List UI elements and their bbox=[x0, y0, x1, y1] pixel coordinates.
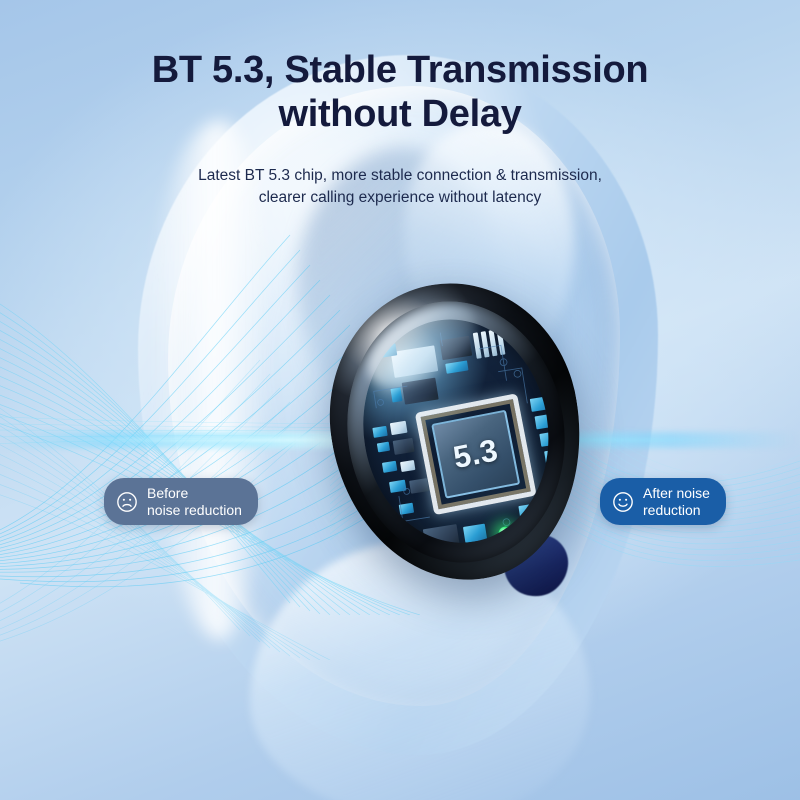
headline-line-1: BT 5.3, Stable Transmission bbox=[152, 49, 649, 91]
page-subtitle: Latest BT 5.3 chip, more stable connecti… bbox=[0, 165, 800, 210]
chip-core: 5.3 bbox=[431, 410, 520, 499]
earbud-transparent-window: 5.3 bbox=[347, 306, 564, 556]
badge-before-text: Before noise reduction bbox=[147, 485, 242, 518]
product-banner: 5.3 BT 5.3, Stable Transmission without … bbox=[0, 0, 800, 800]
badge-before-noise-reduction: Before noise reduction bbox=[104, 478, 258, 525]
subtitle-line-1: Latest BT 5.3 chip, more stable connecti… bbox=[198, 167, 602, 184]
page-title: BT 5.3, Stable Transmission without Dela… bbox=[0, 48, 800, 136]
badge-after-line-1: After noise bbox=[643, 485, 710, 501]
badge-after-noise-reduction: After noise reduction bbox=[600, 478, 726, 525]
badge-after-text: After noise reduction bbox=[643, 485, 710, 518]
circuit-board-icon: 5.3 bbox=[347, 306, 564, 556]
headline-line-2: without Delay bbox=[0, 92, 800, 136]
bluetooth-chip: 5.3 bbox=[415, 393, 537, 515]
earbud-icon: 5.3 bbox=[310, 265, 602, 598]
badge-before-line-2: noise reduction bbox=[147, 502, 242, 519]
smiley-face-icon bbox=[612, 491, 634, 513]
badge-after-line-2: reduction bbox=[643, 502, 710, 519]
sad-face-icon bbox=[116, 491, 138, 513]
badge-before-line-1: Before bbox=[147, 485, 188, 501]
subtitle-line-2: clearer calling experience without laten… bbox=[0, 187, 800, 209]
chip-version-label: 5.3 bbox=[450, 432, 501, 476]
